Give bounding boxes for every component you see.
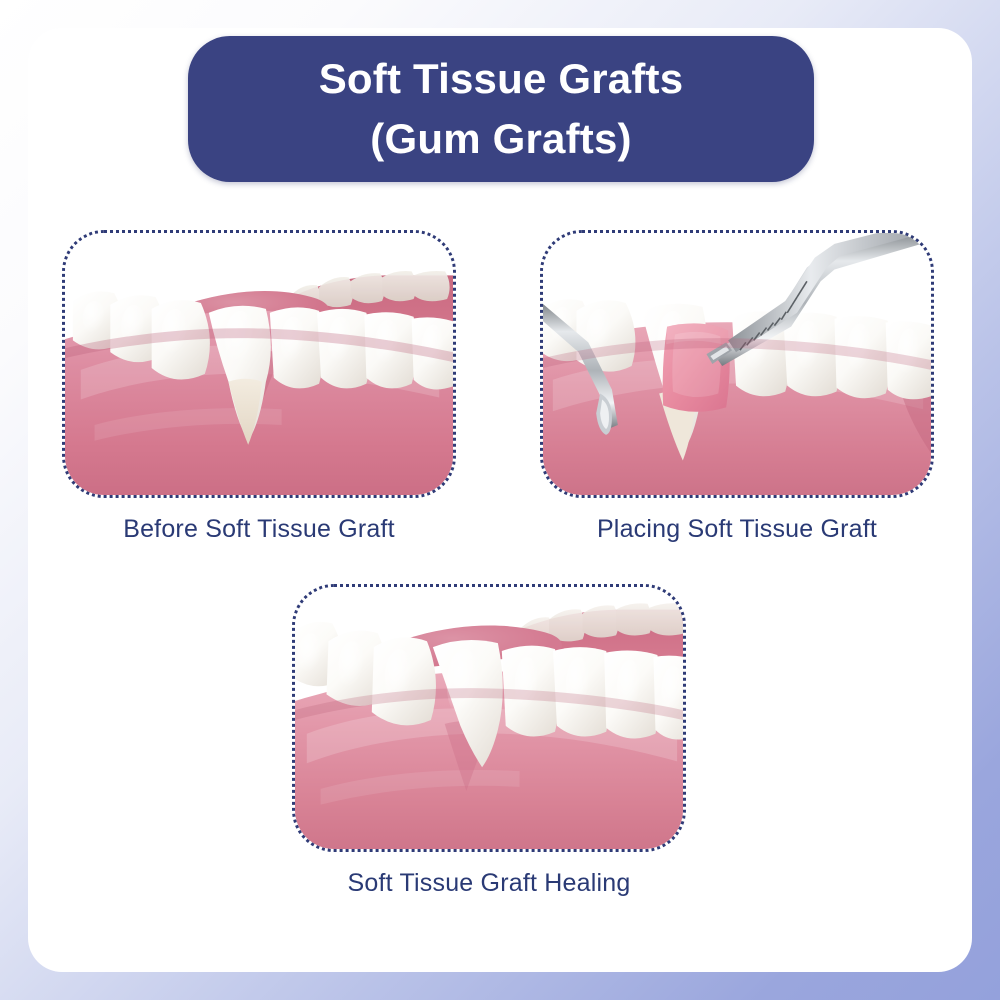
caption-placing-soft-tissue-graft: Placing Soft Tissue Graft [520, 515, 954, 544]
infographic-page: Soft Tissue Grafts (Gum Grafts) [0, 0, 1000, 1000]
title-line-2: (Gum Grafts) [370, 109, 631, 169]
illustration-gum-recession [65, 233, 453, 495]
illustration-graft-placement [543, 233, 931, 495]
caption-before-soft-tissue-graft: Before Soft Tissue Graft [42, 515, 476, 544]
panel-placing-soft-tissue-graft[interactable] [540, 230, 934, 498]
panel-soft-tissue-graft-healing[interactable] [292, 584, 686, 852]
panel-before-soft-tissue-graft[interactable] [62, 230, 456, 498]
content-card: Soft Tissue Grafts (Gum Grafts) [28, 28, 972, 972]
title-line-1: Soft Tissue Grafts [319, 49, 684, 109]
graft-tissue [663, 323, 730, 411]
caption-soft-tissue-graft-healing: Soft Tissue Graft Healing [272, 869, 706, 898]
title-banner: Soft Tissue Grafts (Gum Grafts) [188, 36, 814, 182]
illustration-healed-gums [295, 587, 683, 849]
